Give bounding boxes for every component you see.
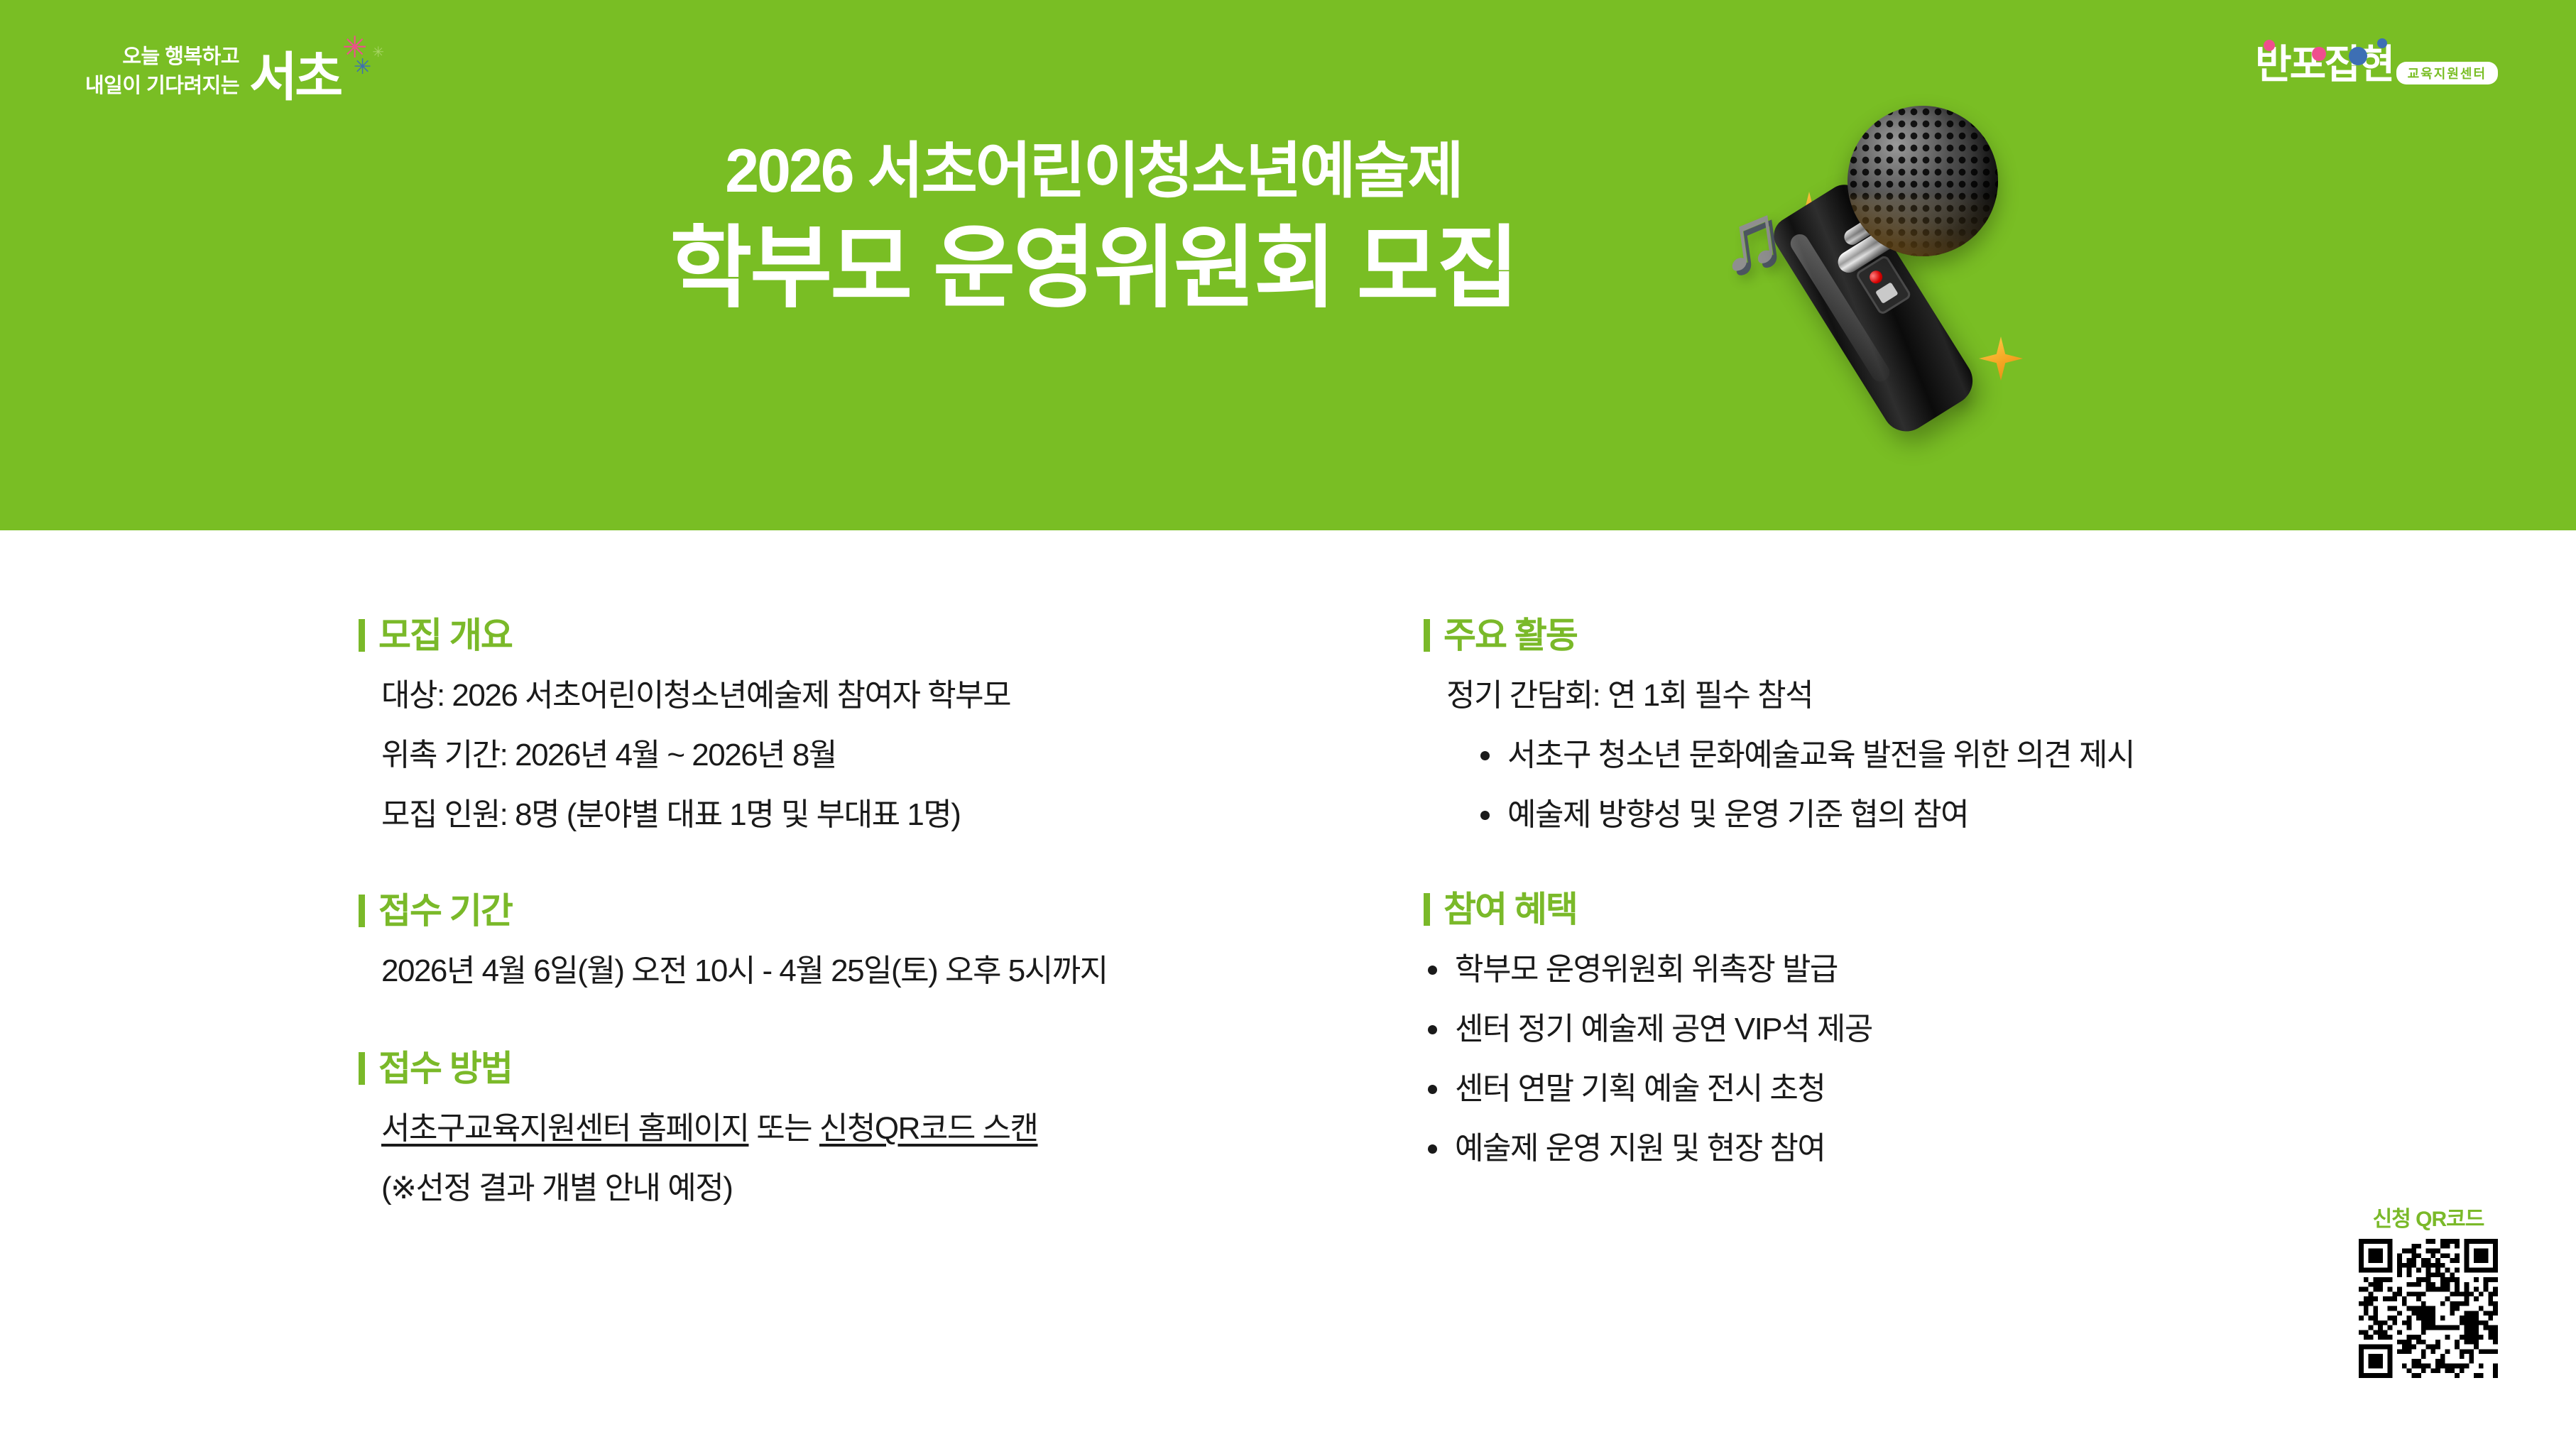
section-heading-application-period: 접수 기간 <box>359 893 1353 929</box>
heading-accent-bar <box>359 1052 365 1085</box>
microphone-grille <box>1848 106 1998 256</box>
application-method-line: 서초구교육지원센터 홈페이지 또는 신청QR코드 스캔 <box>359 1113 1353 1144</box>
poster-body: 모집 개요 대상: 2026 서초어린이청소년예술제 참여자 학부모 위촉 기간… <box>0 530 2576 1449</box>
section-heading-text: 주요 활동 <box>1443 618 1577 653</box>
application-method-conjunction: 또는 <box>748 1111 819 1146</box>
section-body-recruit-overview: 대상: 2026 서초어린이청소년예술제 참여자 학부모 위촉 기간: 2026… <box>359 680 1353 831</box>
list-item: 서초구 청소년 문화예술교육 발전을 위한 의견 제시 <box>1476 740 2311 771</box>
seocho-logo: 오늘 행복하고 내일이 기다려지는 서초 ✳ ✳ ✳ <box>85 43 340 104</box>
banpo-dot-blue-1-icon <box>2349 47 2367 65</box>
star-pale-icon: ✳ <box>372 45 381 60</box>
banpo-subtitle: 교육지원센터 <box>2396 62 2498 84</box>
banpo-dot-pink-1-icon <box>2264 40 2275 51</box>
heading-accent-bar <box>1424 893 1430 926</box>
banpo-wordmark: 반포집현 <box>2255 44 2393 86</box>
qr-scan-link[interactable]: 신청QR코드 스캔 <box>819 1111 1038 1146</box>
section-benefits: 참여 혜택 학부모 운영위원회 위촉장 발급 센터 정기 예술제 공연 VIP석… <box>1424 892 2311 1164</box>
section-heading-text: 접수 방법 <box>378 1051 512 1086</box>
section-heading-application-method: 접수 방법 <box>359 1051 1353 1086</box>
section-body-application-period: 2026년 4월 6일(월) 오전 10시 - 4월 25일(토) 오후 5시까… <box>359 956 1353 987</box>
banpo-jiphyeon-logo: 반포집현 교육지원센터 <box>2255 44 2498 86</box>
heading-accent-bar <box>359 895 365 927</box>
main-activities-bullet-list: 서초구 청소년 문화예술교육 발전을 위한 의견 제시 예술제 방향성 및 운영… <box>1476 740 2311 831</box>
section-main-activities: 주요 활동 정기 간담회: 연 1회 필수 참석 서초구 청소년 문화예술교육 … <box>1424 618 2311 831</box>
overview-line-target: 대상: 2026 서초어린이청소년예술제 참여자 학부모 <box>359 680 1353 711</box>
seocho-slogan-line1: 오늘 행복하고 <box>85 43 239 72</box>
application-period-line: 2026년 4월 6일(월) 오전 10시 - 4월 25일(토) 오후 5시까… <box>359 956 1353 987</box>
list-item: 예술제 운영 지원 및 현장 참여 <box>1424 1133 2311 1164</box>
section-heading-benefits: 참여 혜택 <box>1424 892 2311 927</box>
list-item: 센터 연말 기획 예술 전시 초청 <box>1424 1073 2311 1105</box>
overview-line-period: 위촉 기간: 2026년 4월 ~ 2026년 8월 <box>359 740 1353 771</box>
section-heading-text: 모집 개요 <box>378 618 512 653</box>
section-heading-text: 접수 기간 <box>378 893 512 929</box>
poster-main-title: 학부모 운영위원회 모집 <box>525 220 1661 317</box>
seocho-wordmark: 서초 ✳ ✳ ✳ <box>249 51 340 104</box>
section-body-main-activities: 정기 간담회: 연 1회 필수 참석 서초구 청소년 문화예술교육 발전을 위한… <box>1424 680 2311 831</box>
list-item: 학부모 운영위원회 위촉장 발급 <box>1424 954 2311 985</box>
poster-subtitle: 2026 서초어린이청소년예술제 <box>525 138 1661 204</box>
banpo-dot-pink-2-icon <box>2312 47 2326 61</box>
poster-title-block: 2026 서초어린이청소년예술제 학부모 운영위원회 모집 <box>525 138 1661 317</box>
poster-header: 오늘 행복하고 내일이 기다려지는 서초 ✳ ✳ ✳ 반포집현 교육지원센터 2… <box>0 0 2576 530</box>
homepage-link[interactable]: 서초구교육지원센터 홈페이지 <box>381 1111 748 1146</box>
overview-line-headcount: 모집 인원: 8명 (분야별 대표 1명 및 부대표 1명) <box>359 799 1353 831</box>
microphone-artwork: ♫ ♫ <box>1697 75 2052 472</box>
seocho-slogan-line2: 내일이 기다려지는 <box>85 72 239 101</box>
qr-code-icon[interactable] <box>2359 1239 2498 1378</box>
microphone-led-icon <box>1867 268 1885 286</box>
section-application-method: 접수 방법 서초구교육지원센터 홈페이지 또는 신청QR코드 스캔 (※선정 결… <box>359 1051 1353 1204</box>
main-activities-lead: 정기 간담회: 연 1회 필수 참석 <box>1424 680 2311 711</box>
section-body-benefits: 학부모 운영위원회 위촉장 발급 센터 정기 예술제 공연 VIP석 제공 센터… <box>1424 954 2311 1164</box>
microphone-switch-pad <box>1875 282 1899 304</box>
section-application-period: 접수 기간 2026년 4월 6일(월) 오전 10시 - 4월 25일(토) … <box>359 893 1353 987</box>
section-heading-main-activities: 주요 활동 <box>1424 618 2311 653</box>
heading-accent-bar <box>359 619 365 652</box>
section-recruit-overview: 모집 개요 대상: 2026 서초어린이청소년예술제 참여자 학부모 위촉 기간… <box>359 618 1353 831</box>
qr-label: 신청 QR코드 <box>2350 1201 2506 1232</box>
application-method-note: (※선정 결과 개별 안내 예정) <box>359 1173 1353 1204</box>
left-column: 모집 개요 대상: 2026 서초어린이청소년예술제 참여자 학부모 위촉 기간… <box>359 530 1353 1204</box>
section-heading-recruit-overview: 모집 개요 <box>359 618 1353 653</box>
heading-accent-bar <box>1424 619 1430 652</box>
seocho-slogan: 오늘 행복하고 내일이 기다려지는 <box>85 43 239 104</box>
section-body-application-method: 서초구교육지원센터 홈페이지 또는 신청QR코드 스캔 (※선정 결과 개별 안… <box>359 1113 1353 1204</box>
list-item: 예술제 방향성 및 운영 기준 협의 참여 <box>1476 799 2311 831</box>
qr-block[interactable]: 신청 QR코드 <box>2350 1201 2506 1382</box>
right-column: 주요 활동 정기 간담회: 연 1회 필수 참석 서초구 청소년 문화예술교육 … <box>1424 530 2311 1164</box>
seocho-wordmark-text: 서초 <box>249 48 340 106</box>
section-heading-text: 참여 혜택 <box>1443 892 1577 927</box>
benefits-bullet-list: 학부모 운영위원회 위촉장 발급 센터 정기 예술제 공연 VIP석 제공 센터… <box>1424 954 2311 1164</box>
list-item: 센터 정기 예술제 공연 VIP석 제공 <box>1424 1014 2311 1045</box>
star-blue-icon: ✳ <box>354 57 369 78</box>
